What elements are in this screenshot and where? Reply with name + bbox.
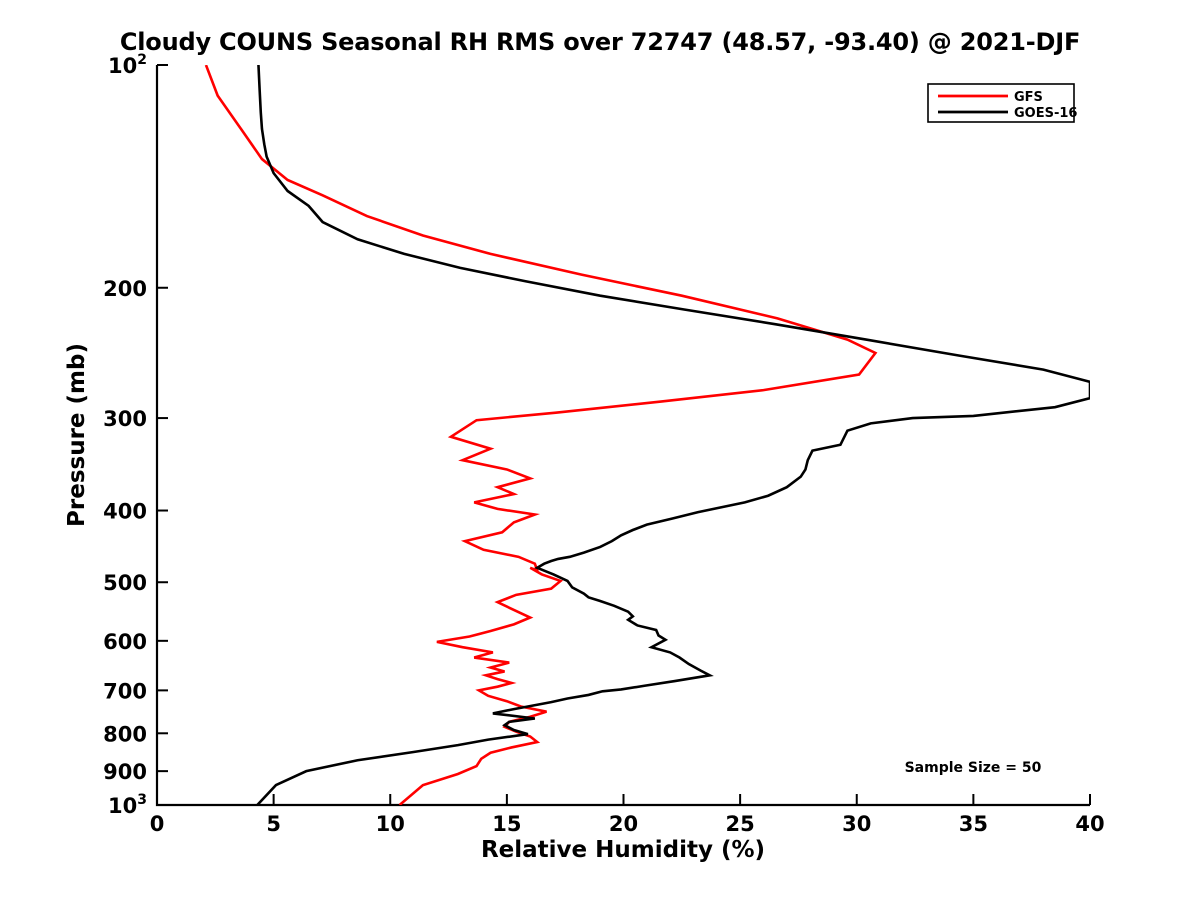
figure-canvas: Cloudy COUNS Seasonal RH RMS over 72747 … <box>0 0 1200 900</box>
x-tick-label: 15 <box>492 812 521 836</box>
y-axis-label: Pressure (mb) <box>64 343 90 527</box>
x-tick-label: 40 <box>1075 812 1104 836</box>
legend[interactable]: GFS GOES-16 <box>928 84 1077 122</box>
x-axis-ticks <box>157 794 1090 805</box>
y-tick-label: 500 <box>103 571 147 595</box>
series-line-goes-16 <box>257 65 1090 805</box>
chart-svg: 0510152025303540 10220030040050060070080… <box>0 0 1200 900</box>
y-tick-label: 900 <box>103 760 147 784</box>
y-tick-label: 103 <box>108 792 147 818</box>
x-tick-label: 10 <box>376 812 405 836</box>
x-axis-tick-labels: 0510152025303540 <box>150 812 1105 836</box>
y-tick-label: 400 <box>103 500 147 524</box>
y-axis-tick-labels: 102200300400500600700800900103 <box>103 52 147 818</box>
y-tick-label: 300 <box>103 407 147 431</box>
legend-label-goes16: GOES-16 <box>1014 106 1077 121</box>
legend-label-gfs: GFS <box>1014 90 1043 105</box>
axes-frame <box>157 65 1090 805</box>
x-tick-label: 0 <box>150 812 165 836</box>
y-tick-label: 200 <box>103 277 147 301</box>
data-series-group <box>206 65 1090 805</box>
series-line-gfs <box>206 65 875 805</box>
x-axis-label: Relative Humidity (%) <box>481 837 765 863</box>
y-tick-label: 600 <box>103 630 147 654</box>
sample-size-annotation: Sample Size = 50 <box>905 760 1042 776</box>
y-axis-ticks <box>157 65 168 805</box>
x-tick-label: 5 <box>266 812 281 836</box>
x-tick-label: 30 <box>842 812 871 836</box>
y-tick-label: 800 <box>103 722 147 746</box>
x-tick-label: 20 <box>609 812 638 836</box>
x-tick-label: 35 <box>959 812 988 836</box>
y-tick-label: 700 <box>103 679 147 703</box>
x-tick-label: 25 <box>726 812 755 836</box>
y-tick-label: 102 <box>108 52 147 78</box>
